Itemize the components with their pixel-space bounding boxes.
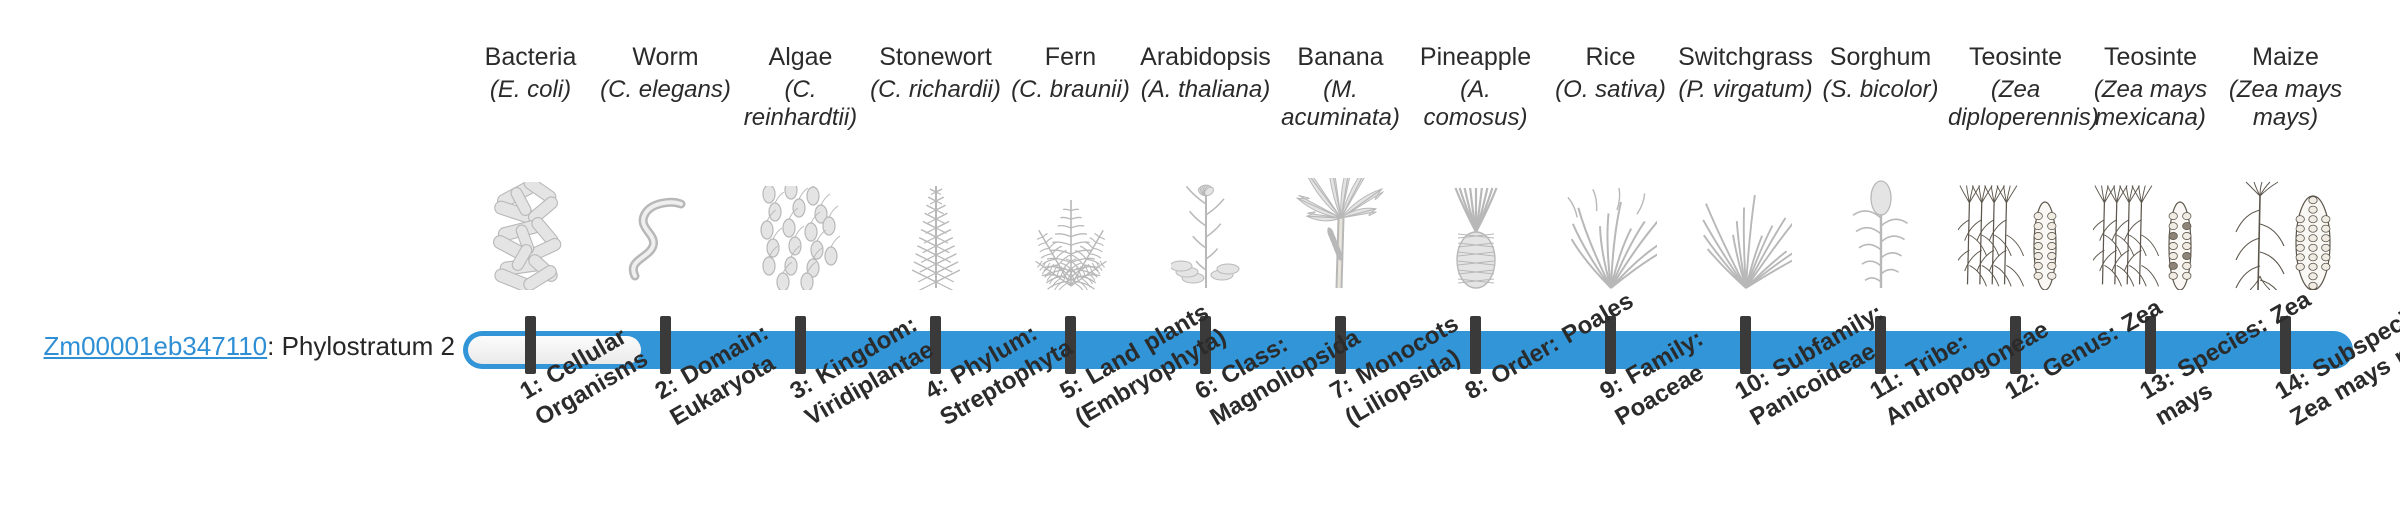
organism-column-12: Teosinte(Zea diploperennis) [1948,0,2083,520]
banana-plant-illustration [1273,168,1408,290]
organism-column-5: Fern(C. braunii) [1003,0,1138,520]
organism-common-name: Teosinte [1948,42,2083,72]
organism-common-name: Algae [733,42,868,72]
nematode-worm-illustration [598,168,733,290]
organism-scientific-name: (M. acuminata) [1273,76,1408,132]
organism-scientific-name: (Zea diploperennis) [1948,76,2083,132]
organism-scientific-name: (O. sativa) [1543,76,1678,104]
organism-common-name: Bacteria [463,42,598,72]
bacteria-rods-illustration [463,168,598,290]
organism-column-14: Maize(Zea mays mays) [2218,0,2353,520]
organism-column-4: Stonewort(C. richardii) [868,0,1003,520]
teosinte-plant-and-ear-illustration [2083,168,2218,290]
organism-common-name: Stonewort [868,42,1003,72]
organism-scientific-name: (Zea mays mexicana) [2083,76,2218,132]
organism-column-1: Bacteria(E. coli) [463,0,598,520]
organism-scientific-name: (C. richardii) [868,76,1003,104]
organism-column-6: Arabidopsis(A. thaliana) [1138,0,1273,520]
stonewort-alga-illustration [868,168,1003,290]
organism-column-10: Switchgrass(P. virgatum) [1678,0,1813,520]
gene-id-link[interactable]: Zm00001eb347110 [44,331,268,361]
organism-column-8: Pineapple(A. comosus) [1408,0,1543,520]
organism-scientific-name: (C. braunii) [1003,76,1138,104]
organism-common-name: Worm [598,42,733,72]
organism-common-name: Rice [1543,42,1678,72]
teosinte-plant-and-ear-illustration [1948,168,2083,290]
organism-common-name: Arabidopsis [1138,42,1273,72]
tick-step-1 [525,316,536,374]
organism-common-name: Switchgrass [1678,42,1813,72]
organism-column-11: Sorghum(S. bicolor) [1813,0,1948,520]
organism-column-9: Rice(O. sativa) [1543,0,1678,520]
organism-scientific-name: (S. bicolor) [1813,76,1948,104]
organism-column-7: Banana(M. acuminata) [1273,0,1408,520]
rice-plant-illustration [1543,168,1678,290]
maize-plant-and-cob-illustration [2218,168,2353,290]
arabidopsis-rosette-illustration [1138,168,1273,290]
gene-phylostratum-label: Zm00001eb347110: Phylostratum 2 [0,331,455,361]
organism-scientific-name: (A. comosus) [1408,76,1543,132]
pineapple-fruit-illustration [1408,168,1543,290]
phylostratum-timeline: Zm00001eb347110: Phylostratum 2 Bacteria… [0,0,2400,520]
organism-common-name: Teosinte [2083,42,2218,72]
organism-columns: Bacteria(E. coli)Worm(C. elegans)Algae(C… [463,0,2353,520]
phylostratum-value-text: Phylostratum 2 [282,331,455,361]
green-algae-cells-illustration [733,168,868,290]
organism-scientific-name: (A. thaliana) [1138,76,1273,104]
sorghum-panicle-illustration [1813,168,1948,290]
organism-scientific-name: (Zea mays mays) [2218,76,2353,132]
organism-scientific-name: (C. reinhardtii) [733,76,868,132]
organism-column-13: Teosinte(Zea mays mexicana) [2083,0,2218,520]
switchgrass-clump-illustration [1678,168,1813,290]
gene-separator: : [267,331,281,361]
organism-common-name: Sorghum [1813,42,1948,72]
organism-column-3: Algae(C. reinhardtii) [733,0,868,520]
fern-frond-illustration [1003,168,1138,290]
organism-column-2: Worm(C. elegans) [598,0,733,520]
organism-common-name: Fern [1003,42,1138,72]
organism-common-name: Pineapple [1408,42,1543,72]
organism-scientific-name: (E. coli) [463,76,598,104]
organism-common-name: Maize [2218,42,2353,72]
organism-scientific-name: (P. virgatum) [1678,76,1813,104]
organism-scientific-name: (C. elegans) [598,76,733,104]
organism-common-name: Banana [1273,42,1408,72]
